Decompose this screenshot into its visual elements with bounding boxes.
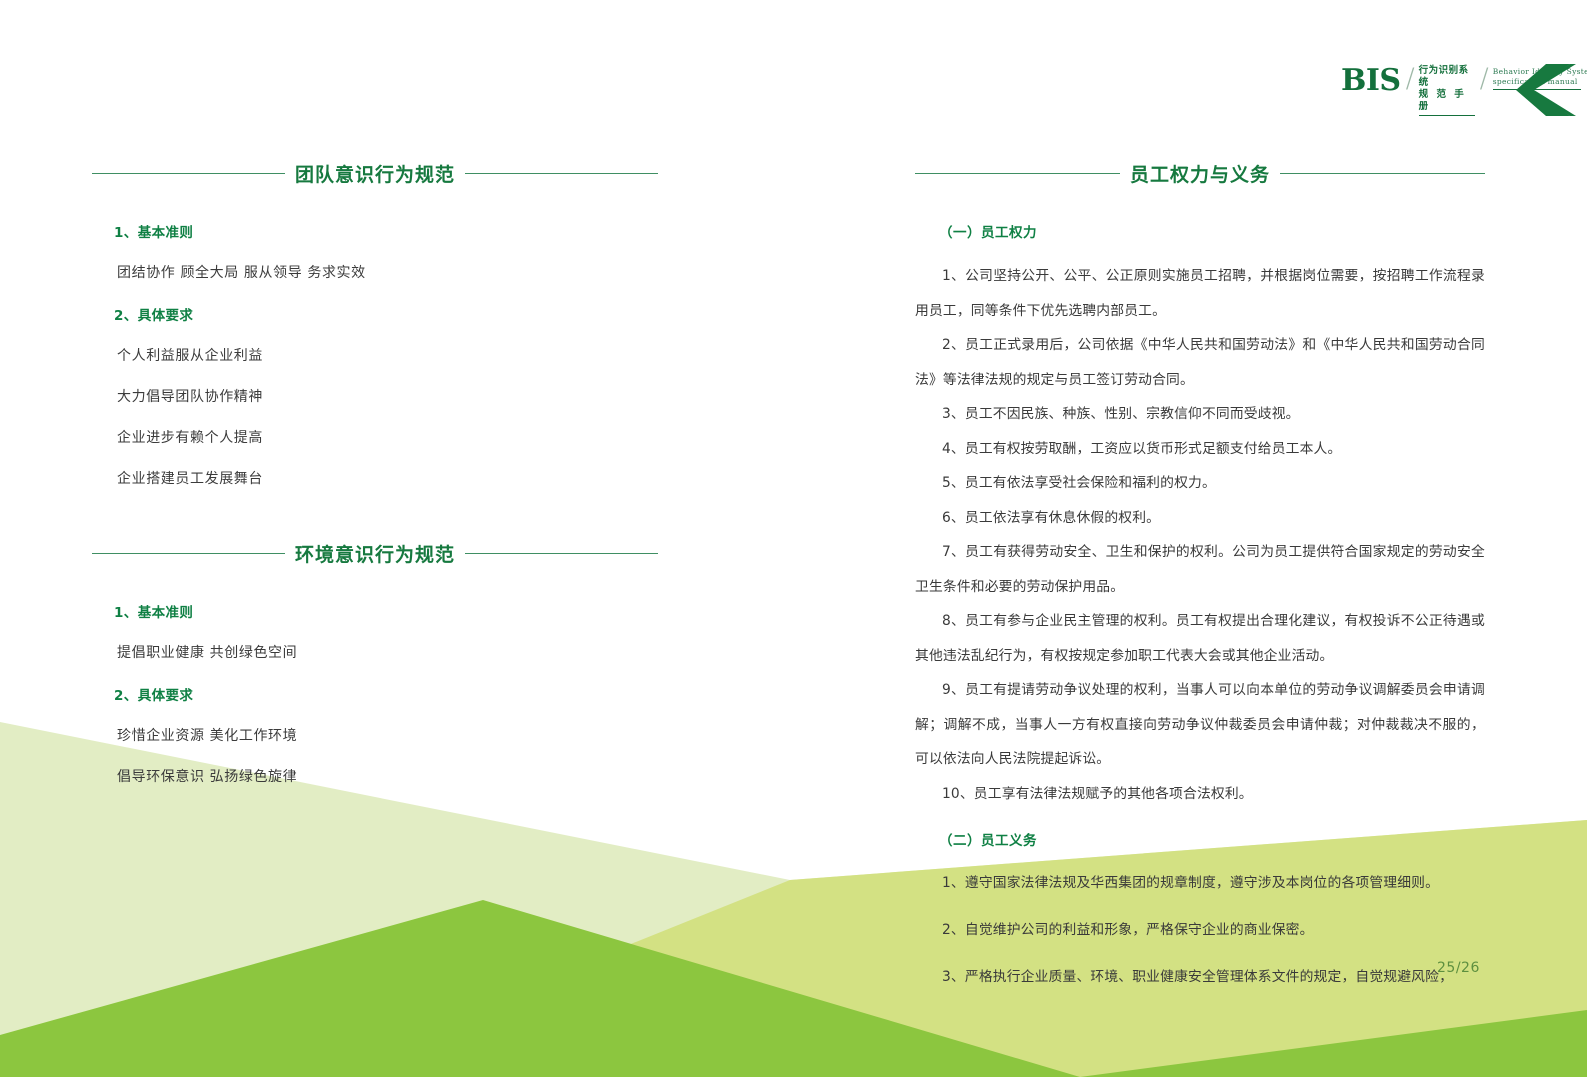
subheading-team-basic: 1、基本准则 [114,221,658,241]
list-item: 2、员工正式录用后，公司依据《中华人民共和国劳动法》和《中华人民共和国劳动合同法… [915,328,1485,397]
list-item: 10、员工享有法律法规赋予的其他各项合法权利。 [915,777,1485,812]
duties-list: 1、遵守国家法律法规及华西集团的规章制度，遵守涉及本岗位的各项管理细则。 2、自… [915,867,1485,994]
list-item: 3、严格执行企业质量、环境、职业健康安全管理体系文件的规定，自觉规避风险， [915,961,1485,994]
list-item: 5、员工有依法享受社会保险和福利的权力。 [915,466,1485,501]
text-line: 提倡职业健康 共创绿色空间 [117,643,658,663]
brand-separator-2: / [1475,62,1493,94]
text-line: 团结协作 顾全大局 服从领导 务求实效 [117,263,658,283]
brand-separator-1: / [1401,62,1419,94]
list-item: 6、员工依法享有休息休假的权利。 [915,501,1485,536]
subheading-employee-rights: （一）员工权力 [939,221,1485,241]
text-line: 大力倡导团队协作精神 [117,387,658,407]
text-line: 个人利益服从企业利益 [117,346,658,366]
right-column: 员工权力与义务 （一）员工权力 1、公司坚持公开、公平、公正原则实施员工招聘，并… [915,160,1485,1007]
chevron-left-icon [1514,64,1576,116]
brochure-page: BIS / 行为识别系统 规 范 手 册 / Behavior Identity… [0,0,1587,1077]
heading-rule-left [915,173,1120,174]
rights-list: 1、公司坚持公开、公平、公正原则实施员工招聘，并根据岗位需要，按招聘工作流程录用… [915,259,1485,811]
heading-rule-right [1280,173,1485,174]
left-column: 团队意识行为规范 1、基本准则 团结协作 顾全大局 服从领导 务求实效 2、具体… [92,160,658,808]
section-title-environment: 环境意识行为规范 [285,540,465,567]
section-heading-rights-duties: 员工权力与义务 [915,160,1485,187]
heading-rule-left [92,173,285,174]
heading-rule-right [465,173,658,174]
heading-rule-right [465,553,658,554]
subheading-env-basic: 1、基本准则 [114,601,658,621]
section-heading-environment: 环境意识行为规范 [92,540,658,567]
list-item: 1、公司坚持公开、公平、公正原则实施员工招聘，并根据岗位需要，按招聘工作流程录用… [915,259,1485,328]
deco-shape-dark-right [1080,1010,1587,1077]
list-item: 7、员工有获得劳动安全、卫生和保护的权利。公司为员工提供符合国家规定的劳动安全卫… [915,535,1485,604]
subheading-env-requirements: 2、具体要求 [114,684,658,704]
list-item: 9、员工有提请劳动争议处理的权利，当事人可以向本单位的劳动争议调解委员会申请调解… [915,673,1485,777]
subheading-employee-duties: （二）员工义务 [939,829,1485,849]
section-heading-team: 团队意识行为规范 [92,160,658,187]
list-item: 1、遵守国家法律法规及华西集团的规章制度，遵守涉及本岗位的各项管理细则。 [915,867,1485,900]
section-gap [92,510,658,540]
page-number: 25/26 [1437,960,1480,976]
section-title-team: 团队意识行为规范 [285,160,465,187]
list-item: 4、员工有权按劳取酬，工资应以货币形式足额支付给员工本人。 [915,432,1485,467]
heading-rule-left [92,553,285,554]
list-item: 8、员工有参与企业民主管理的权利。员工有权提出合理化建议，有权投诉不公正待遇或其… [915,604,1485,673]
text-line: 企业进步有赖个人提高 [117,428,658,448]
brand-cn-line-2: 规 范 手 册 [1419,89,1475,116]
section-title-rights-duties: 员工权力与义务 [1120,160,1280,187]
list-item: 3、员工不因民族、种族、性别、宗教信仰不同而受歧视。 [915,397,1485,432]
text-line: 珍惜企业资源 美化工作环境 [117,726,658,746]
subheading-team-requirements: 2、具体要求 [114,304,658,324]
brand-chinese-title: 行为识别系统 规 范 手 册 [1419,62,1475,116]
text-line: 企业搭建员工发展舞台 [117,469,658,489]
text-line: 倡导环保意识 弘扬绿色旋律 [117,767,658,787]
brand-mark-bis: BIS [1341,62,1401,96]
brand-cn-line-1: 行为识别系统 [1419,65,1475,89]
list-item: 2、自觉维护公司的利益和形象，严格保守企业的商业保密。 [915,914,1485,947]
